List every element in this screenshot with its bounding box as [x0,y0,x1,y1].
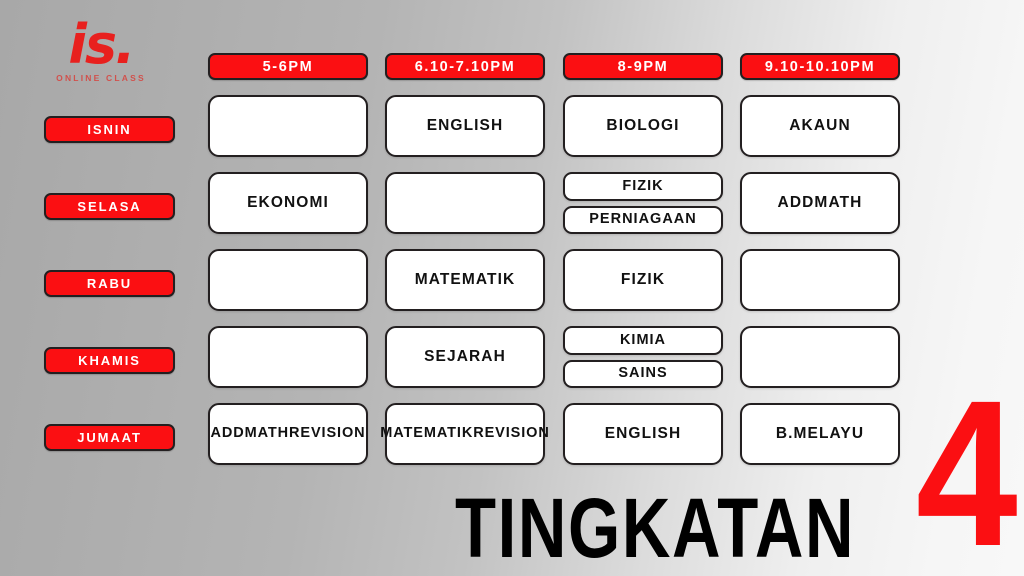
day-label-rabu: RABU [44,270,175,297]
schedule-cell: ENGLISH [385,95,545,157]
schedule-cell: SEJARAH [385,326,545,388]
poster-canvas: is. ONLINE CLASS 5-6PM6.10-7.10PM8-9PM9.… [0,0,1024,576]
schedule-cell: MATEMATIK [385,249,545,311]
logo-tagline: ONLINE CLASS [36,73,166,83]
logo-wordmark: is. [36,18,166,72]
schedule-cell-empty [740,326,900,388]
time-slot-header-1: 5-6PM [208,53,368,80]
brand-logo: is. ONLINE CLASS [36,18,166,94]
schedule-cell: AKAUN [740,95,900,157]
schedule-cell: PERNIAGAAN [563,206,723,235]
page-title: TINGKATAN [455,486,855,570]
schedule-cell-empty [208,326,368,388]
schedule-cell: B.MELAYU [740,403,900,465]
schedule-cell: SAINS [563,360,723,389]
subject-line: REVISION [473,425,550,442]
subject-line: MATEMATIK [380,425,473,442]
subject-line: REVISION [289,425,366,442]
time-slot-header-2: 6.10-7.10PM [385,53,545,80]
subject-line: ADDMATH [210,425,289,442]
schedule-cell: MATEMATIKREVISION [385,403,545,465]
day-label-selasa: SELASA [44,193,175,220]
schedule-cell: FIZIK [563,249,723,311]
time-slot-header-3: 8-9PM [563,53,723,80]
schedule-cell-empty [208,95,368,157]
day-label-jumaat: JUMAAT [44,424,175,451]
day-label-isnin: ISNIN [44,116,175,143]
day-label-khamis: KHAMIS [44,347,175,374]
time-slot-header-4: 9.10-10.10PM [740,53,900,80]
schedule-cell-empty [385,172,545,234]
schedule-cell: KIMIA [563,326,723,355]
schedule-cell-empty [740,249,900,311]
schedule-cell: ADDMATH [740,172,900,234]
schedule-cell: FIZIK [563,172,723,201]
schedule-cell-empty [208,249,368,311]
schedule-cell: ENGLISH [563,403,723,465]
schedule-cell: ADDMATHREVISION [208,403,368,465]
schedule-cell: EKONOMI [208,172,368,234]
schedule-cell: BIOLOGI [563,95,723,157]
form-number-badge: 4 [916,384,1018,564]
